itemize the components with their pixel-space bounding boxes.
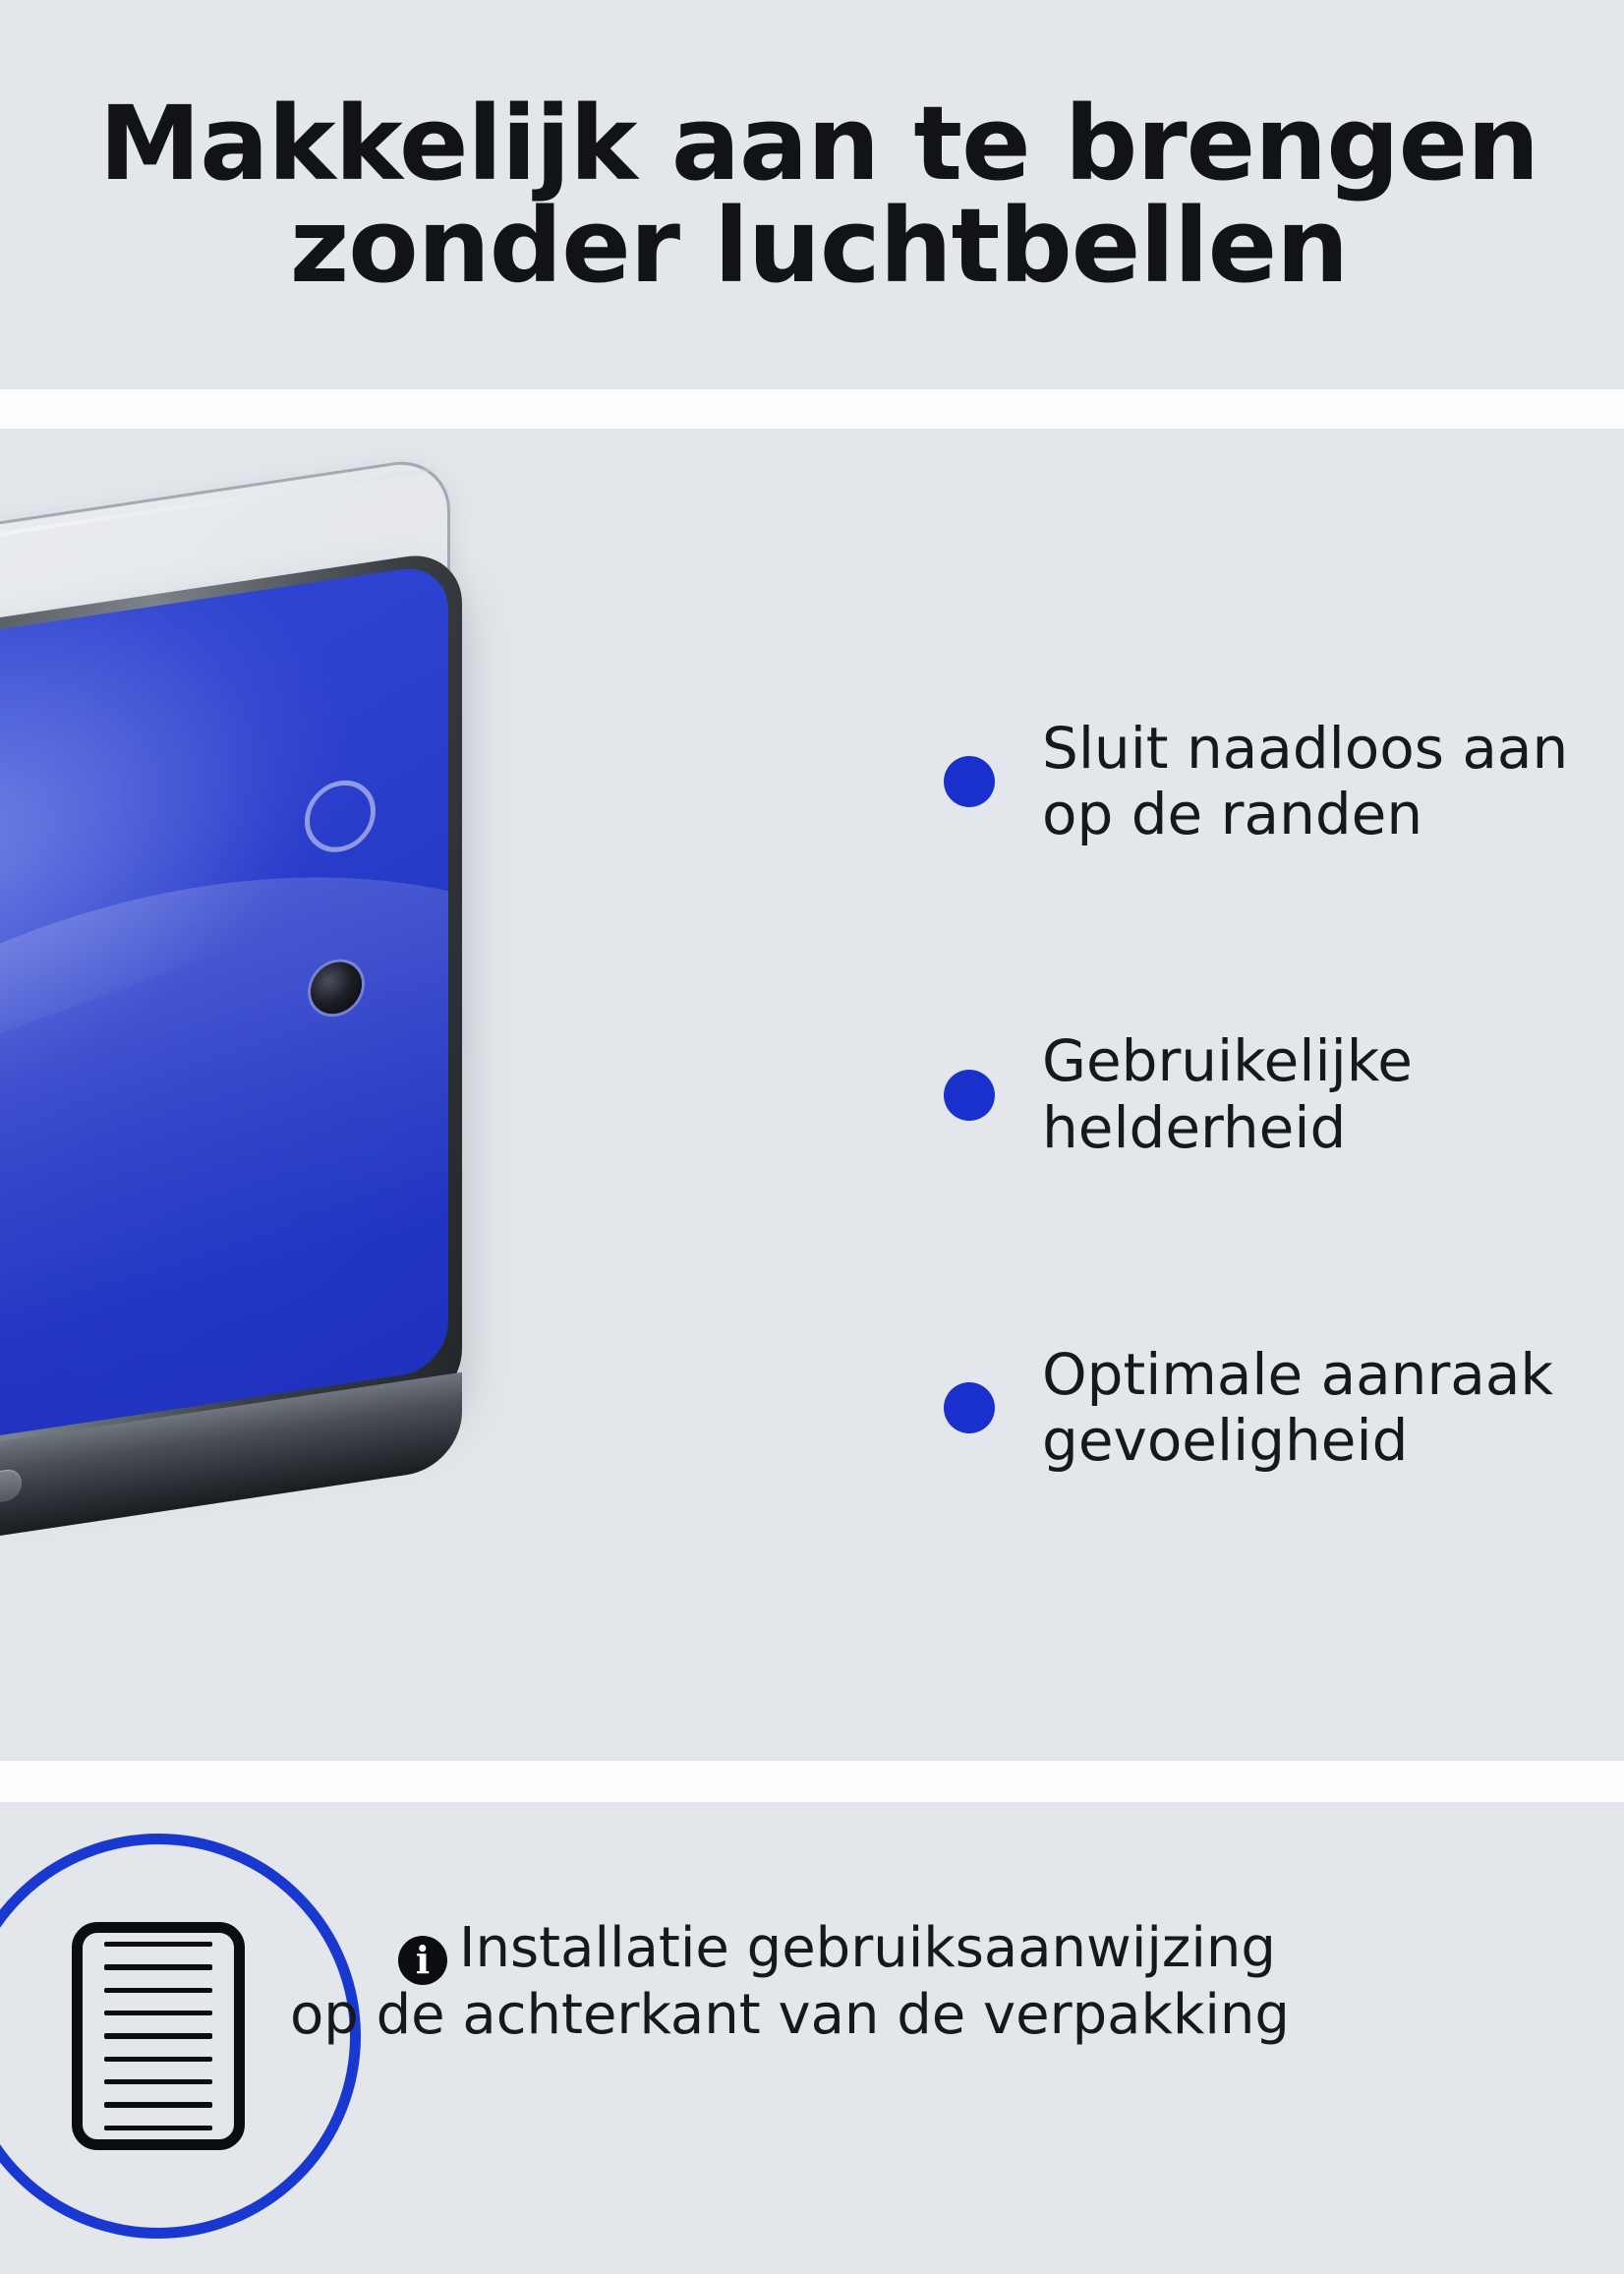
- doc-line: [104, 1942, 212, 1947]
- feature-2-line-2: helderheid: [1042, 1095, 1413, 1161]
- phone-frame: [0, 549, 462, 1519]
- feature-item-3: Optimale aanraak gevoeligheid: [944, 1342, 1624, 1475]
- bullet-icon: [944, 1070, 995, 1121]
- page-title-line-2: zonder luchtbellen: [99, 195, 1538, 297]
- feature-1-line-2: op de randen: [1042, 782, 1568, 847]
- feature-2-line-1: Gebruikelijke: [1042, 1027, 1413, 1094]
- feature-item-1: Sluit naadloos aan op de randen: [944, 716, 1624, 848]
- smartphone: [0, 549, 462, 1588]
- feature-3-line-1: Optimale aanraak: [1042, 1341, 1553, 1408]
- doc-line: [104, 2102, 212, 2107]
- footer-note-line-2: op de achterkant van de verpakking: [290, 1985, 1624, 2047]
- feature-text-1: Sluit naadloos aan op de randen: [1042, 716, 1568, 848]
- bullet-icon: [944, 756, 995, 807]
- section-divider-top: [0, 389, 1624, 429]
- feature-text-2: Gebruikelijke helderheid: [1042, 1028, 1413, 1161]
- page-title: Makkelijk aan te brengen zonder luchtbel…: [99, 92, 1538, 297]
- main-section: Sluit naadloos aan op de randen Gebruike…: [0, 429, 1624, 1761]
- glass-highlight: [0, 467, 437, 574]
- document-manual-icon: [72, 1922, 245, 2150]
- footer-note: iInstallatie gebruiksaanwijzing op de ac…: [398, 1918, 1624, 2047]
- footer-section: iInstallatie gebruiksaanwijzing op de ac…: [0, 1802, 1624, 2274]
- doc-line: [104, 2033, 212, 2038]
- feature-1-line-1: Sluit naadloos aan: [1042, 715, 1568, 782]
- bullet-icon: [944, 1382, 995, 1433]
- header-section: Makkelijk aan te brengen zonder luchtbel…: [0, 0, 1624, 389]
- phone-screen: [0, 562, 448, 1479]
- footer-note-line-1: Installatie gebruiksaanwijzing: [459, 1916, 1276, 1980]
- doc-line: [104, 2057, 212, 2062]
- feature-3-line-2: gevoeligheid: [1042, 1408, 1553, 1474]
- feature-text-3: Optimale aanraak gevoeligheid: [1042, 1342, 1553, 1475]
- doc-line: [104, 1964, 212, 1969]
- doc-line: [104, 1988, 212, 1993]
- info-icon: i: [398, 1936, 447, 1985]
- doc-line: [104, 2126, 212, 2130]
- feature-item-2: Gebruikelijke helderheid: [944, 1028, 1624, 1161]
- section-divider-bottom: [0, 1761, 1624, 1802]
- doc-line: [104, 2079, 212, 2084]
- feature-list: Sluit naadloos aan op de randen Gebruike…: [944, 429, 1624, 1761]
- product-image: [0, 448, 836, 1628]
- doc-line: [104, 2011, 212, 2015]
- phone-side-button: [0, 1468, 22, 1539]
